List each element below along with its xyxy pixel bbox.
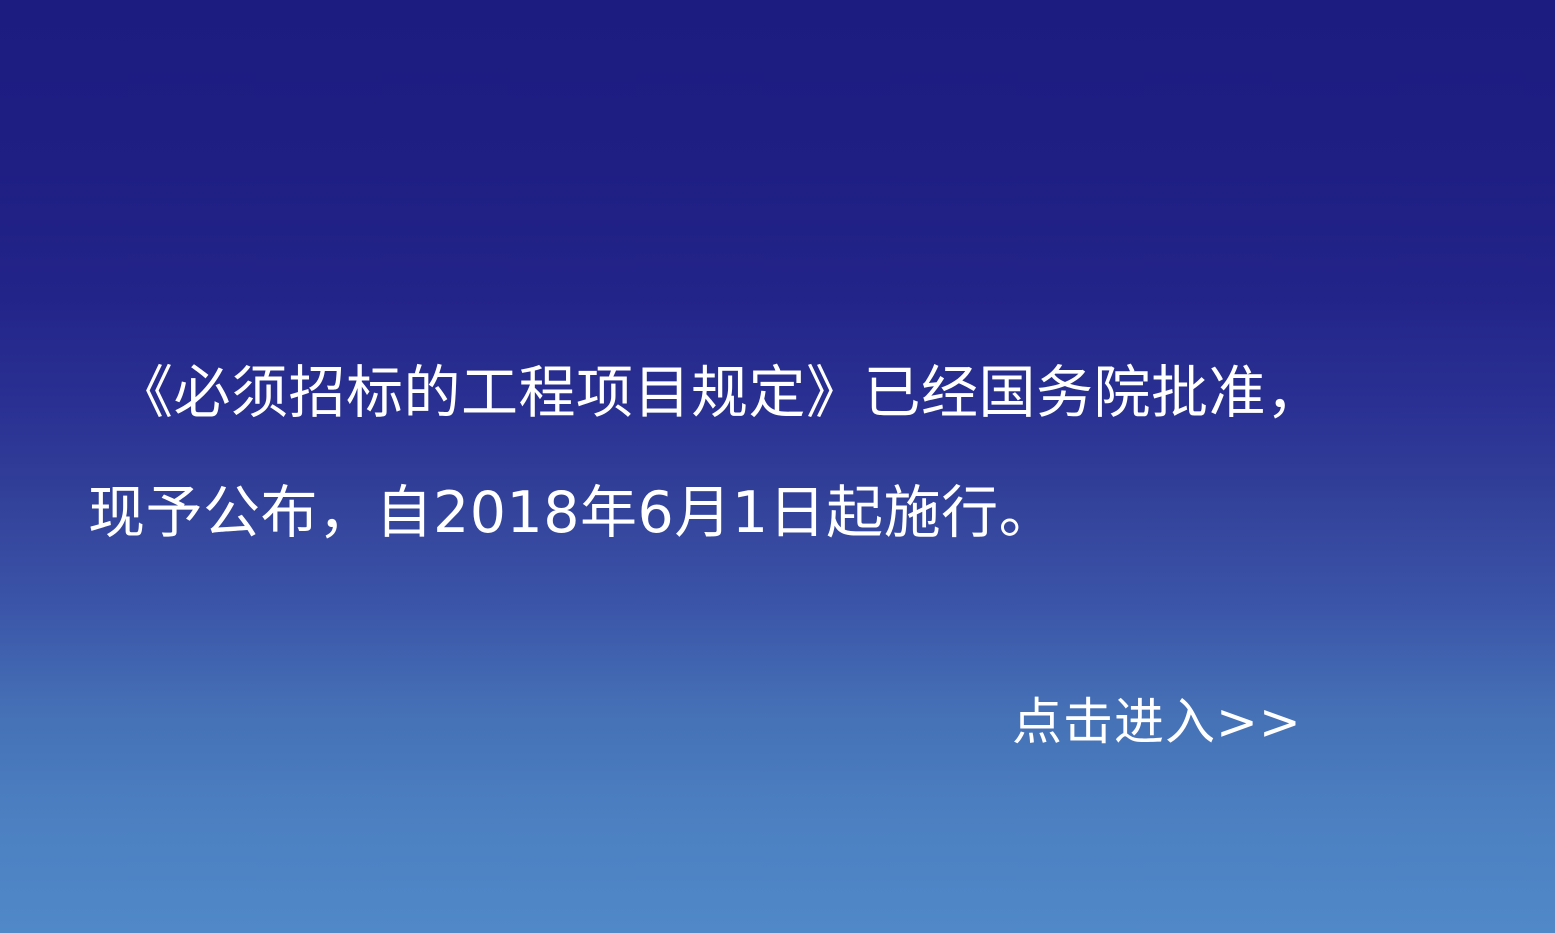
cta-container: 点击进入>> (1012, 692, 1302, 752)
statement-line-2: 现予公布，自2018年6月1日起施行。 (88, 453, 1448, 573)
enter-link[interactable]: 点击进入>> (1012, 692, 1302, 752)
statement-line-1: 《必须招标的工程项目规定》已经国务院批准， (88, 333, 1448, 453)
promo-banner: 《必须招标的工程项目规定》已经国务院批准， 现予公布，自2018年6月1日起施行… (0, 0, 1555, 933)
announcement-statement: 《必须招标的工程项目规定》已经国务院批准， 现予公布，自2018年6月1日起施行… (88, 333, 1448, 573)
